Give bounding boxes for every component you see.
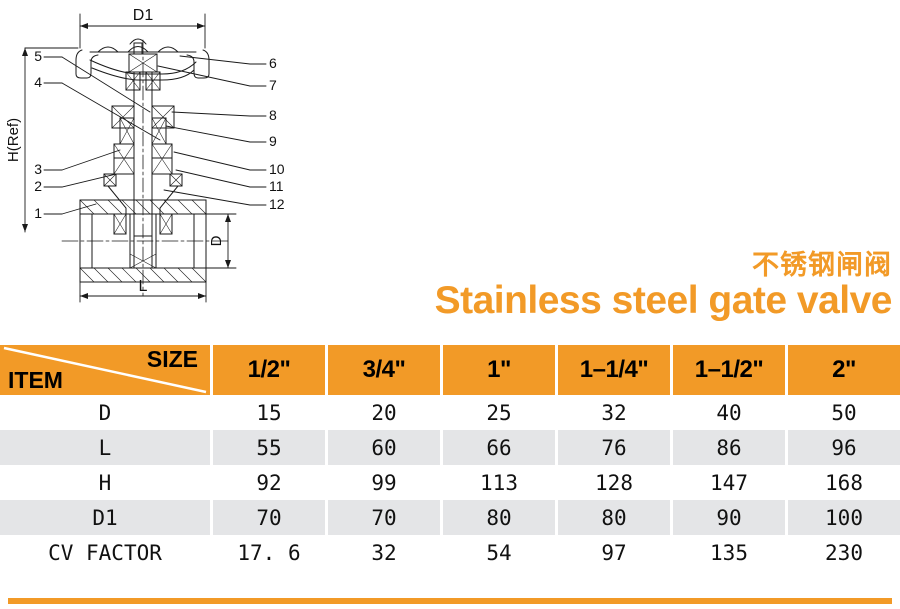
size-header-0: 1/2" [213,345,325,395]
header-label-item: ITEM [8,367,63,394]
product-title-block: 不锈钢闸阀 Stainless steel gate valve [332,252,892,320]
product-title-chinese: 不锈钢闸阀 [332,252,892,279]
table-header-row: SIZE ITEM 1/2" 3/4" 1" 1–1/4" 1–1/2" 2" [0,345,900,395]
size-header-1: 3/4" [328,345,440,395]
callout-label-4: 4 [34,74,42,90]
cell-d1-2: 80 [443,500,555,535]
row-label-h: H [0,465,210,500]
cell-l-1: 60 [328,430,440,465]
size-header-5: 2" [788,345,900,395]
table-row: CV FACTOR 17. 6 32 54 97 135 230 [0,535,900,570]
table-row: D 15 20 25 32 40 50 [0,395,900,430]
cell-l-0: 55 [213,430,325,465]
cell-d-2: 25 [443,395,555,430]
row-label-d1: D1 [0,500,210,535]
callout-label-8: 8 [269,107,277,123]
cell-h-1: 99 [328,465,440,500]
dimension-label-l: L [139,278,148,295]
row-label-cv-factor: CV FACTOR [0,535,210,570]
cell-h-4: 147 [673,465,785,500]
table-row: L 55 60 66 76 86 96 [0,430,900,465]
cell-d-1: 20 [328,395,440,430]
cell-d1-0: 70 [213,500,325,535]
callout-label-9: 9 [269,133,277,149]
callout-label-7: 7 [269,77,277,93]
callout-label-1: 1 [34,205,42,221]
cell-d-3: 32 [558,395,670,430]
gate-valve-technical-drawing: D1 H(Ref) L D 5 4 3 2 1 6 7 8 9 10 11 12 [0,0,330,320]
cell-d1-3: 80 [558,500,670,535]
cell-cv-4: 135 [673,535,785,570]
spec-sheet-page: D1 H(Ref) L D 5 4 3 2 1 6 7 8 9 10 11 12… [0,0,900,609]
callout-label-5: 5 [34,48,42,64]
header-corner-cell: SIZE ITEM [0,345,210,395]
cell-h-3: 128 [558,465,670,500]
cell-cv-2: 54 [443,535,555,570]
dimension-label-d: D [208,235,225,246]
callout-label-2: 2 [34,178,42,194]
dimension-label-d1: D1 [133,7,154,24]
cell-d1-4: 90 [673,500,785,535]
cell-h-2: 113 [443,465,555,500]
cell-d1-1: 70 [328,500,440,535]
callout-label-11: 11 [269,178,284,194]
table-row: D1 70 70 80 80 90 100 [0,500,900,535]
row-label-d: D [0,395,210,430]
cell-cv-0: 17. 6 [213,535,325,570]
cell-l-2: 66 [443,430,555,465]
dimension-label-h-ref: H(Ref) [5,118,22,162]
callout-leaders-right [158,56,266,205]
cell-l-5: 96 [788,430,900,465]
cell-h-0: 92 [213,465,325,500]
valve-cross-section-svg: D1 H(Ref) L D 5 4 3 2 1 6 7 8 9 10 11 12 [0,0,330,320]
cell-cv-5: 230 [788,535,900,570]
specification-table: SIZE ITEM 1/2" 3/4" 1" 1–1/4" 1–1/2" 2" … [0,345,900,570]
size-header-4: 1–1/2" [673,345,785,395]
cell-h-5: 168 [788,465,900,500]
cell-cv-1: 32 [328,535,440,570]
callout-label-10: 10 [269,161,285,177]
cell-d-4: 40 [673,395,785,430]
cell-d1-5: 100 [788,500,900,535]
size-header-2: 1" [443,345,555,395]
cell-l-4: 86 [673,430,785,465]
callout-label-3: 3 [34,161,42,177]
row-label-l: L [0,430,210,465]
cell-l-3: 76 [558,430,670,465]
cell-d-5: 50 [788,395,900,430]
cell-d-0: 15 [213,395,325,430]
product-title-english: Stainless steel gate valve [332,281,892,320]
header-label-size: SIZE [147,346,198,373]
callout-label-12: 12 [269,196,285,212]
size-header-3: 1–1/4" [558,345,670,395]
cell-cv-3: 97 [558,535,670,570]
bottom-accent-bar [8,598,892,604]
dimension-h-ref [22,48,78,232]
callout-label-6: 6 [269,55,277,71]
table-row: H 92 99 113 128 147 168 [0,465,900,500]
handwheel [76,39,209,90]
